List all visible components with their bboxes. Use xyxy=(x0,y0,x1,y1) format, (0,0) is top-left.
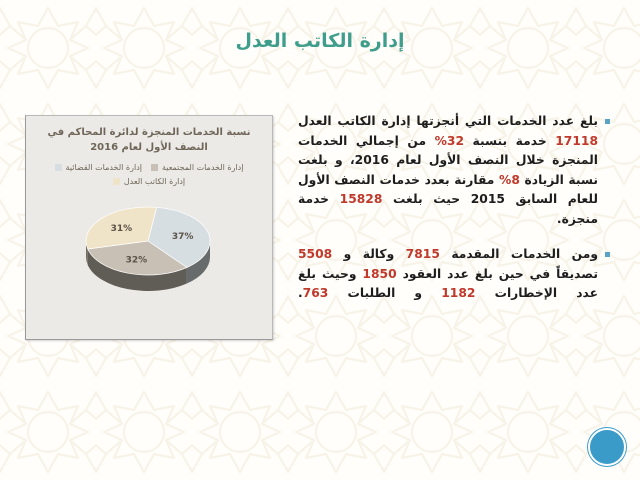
legend-swatch-community-services xyxy=(151,164,158,171)
paragraph-1: بلغ عدد الخدمات التي أنجزتها إدارة الكات… xyxy=(298,112,610,229)
bullet-icon-2 xyxy=(605,252,610,257)
text-run: ومن الخدمات المقدمة xyxy=(440,247,598,261)
highlighted-number: 8% xyxy=(499,173,520,187)
legend-item-community-services[interactable]: إدارة الخدمات المجتمعية xyxy=(151,163,243,172)
bullet-icon-1 xyxy=(605,119,610,124)
text-run: خدمة بنسبة xyxy=(464,134,555,148)
chart-title: نسبة الخدمات المنجزة لدائرة المحاكم في ا… xyxy=(26,125,272,155)
highlighted-number: 763 xyxy=(303,286,329,300)
pie-data-label-2: 31% xyxy=(111,224,133,234)
pie-chart[interactable]: 37%32%31% xyxy=(58,191,238,307)
chart-title-line-1: نسبة الخدمات المنجزة لدائرة المحاكم في xyxy=(36,125,262,140)
body-text-block: بلغ عدد الخدمات التي أنجزتها إدارة الكات… xyxy=(298,112,610,320)
pie-data-label-0: 37% xyxy=(172,232,194,242)
chart-title-line-2: النصف الأول لعام 2016 xyxy=(36,140,262,155)
highlighted-number: 17118 xyxy=(555,134,598,148)
legend-row-bottom: إدارة الكاتب العدل xyxy=(38,177,260,186)
nav-circle-button[interactable] xyxy=(588,428,626,466)
text-run: تصديقاً في حين بلغ عدد العقود xyxy=(397,267,598,281)
slide-canvas: إدارة الكاتب العدل نسبة الخدمات المنجزة … xyxy=(0,0,640,480)
paragraph-2-text: ومن الخدمات المقدمة 7815 وكالة و 5508 تص… xyxy=(298,245,598,304)
highlighted-number: 1850 xyxy=(362,267,396,281)
legend-label-judicial-services: إدارة الخدمات القضائية xyxy=(66,163,142,172)
chart-panel: نسبة الخدمات المنجزة لدائرة المحاكم في ا… xyxy=(25,115,273,340)
paragraph-1-text: بلغ عدد الخدمات التي أنجزتها إدارة الكات… xyxy=(298,112,598,229)
pie-chart-area: 37%32%31% xyxy=(25,191,272,309)
legend-label-community-services: إدارة الخدمات المجتمعية xyxy=(162,163,243,172)
highlighted-number: 7815 xyxy=(406,247,440,261)
pie-data-label-1: 32% xyxy=(126,256,148,266)
legend-label-notary-public: إدارة الكاتب العدل xyxy=(124,177,185,186)
legend-item-judicial-services[interactable]: إدارة الخدمات القضائية xyxy=(55,163,142,172)
page-title: إدارة الكاتب العدل xyxy=(0,30,640,52)
legend-swatch-notary-public xyxy=(113,178,120,185)
legend-swatch-judicial-services xyxy=(55,164,62,171)
highlighted-number: 32% xyxy=(435,134,464,148)
highlighted-number: 5508 xyxy=(298,247,332,261)
text-run: بلغ عدد الخدمات التي أنجزتها إدارة الكات… xyxy=(298,114,598,128)
text-run: و الطلبات xyxy=(328,286,441,300)
paragraph-2: ومن الخدمات المقدمة 7815 وكالة و 5508 تص… xyxy=(298,245,610,304)
text-run: وكالة و xyxy=(332,247,405,261)
legend-row-top: إدارة الخدمات القضائية إدارة الخدمات الم… xyxy=(38,163,260,172)
chart-legend: إدارة الخدمات القضائية إدارة الخدمات الم… xyxy=(26,163,272,186)
legend-item-notary-public[interactable]: إدارة الكاتب العدل xyxy=(113,177,185,186)
highlighted-number: 15828 xyxy=(340,192,383,206)
highlighted-number: 1182 xyxy=(441,286,475,300)
